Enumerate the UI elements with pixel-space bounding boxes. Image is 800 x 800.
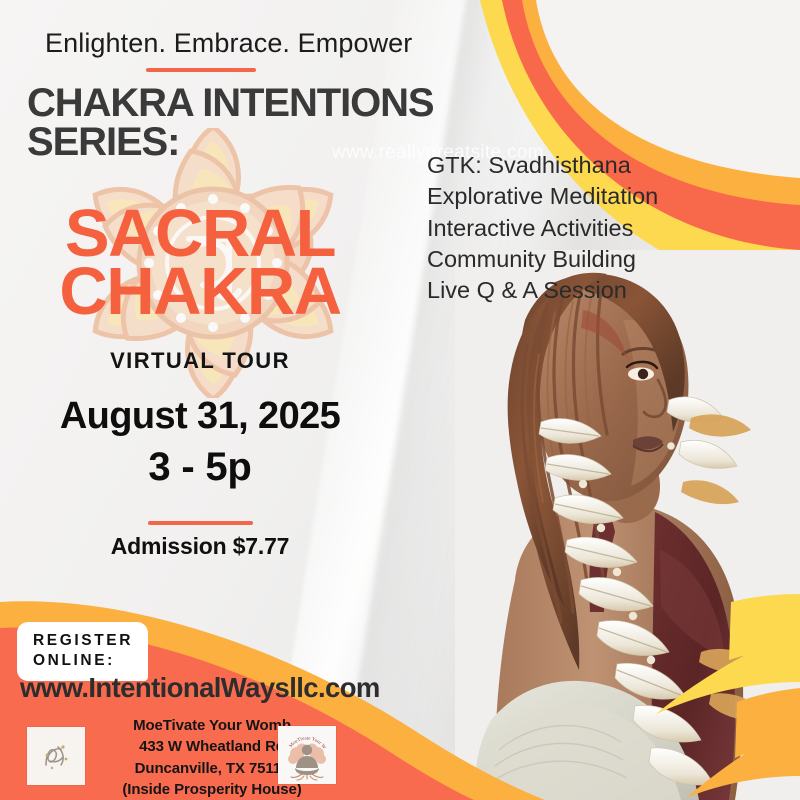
intentional-ways-logo-icon: [27, 727, 85, 785]
chakra-title-line-2: CHAKRA: [0, 263, 400, 321]
feature-item: Community Building: [427, 244, 658, 275]
feature-item: Live Q & A Session: [427, 275, 658, 306]
event-subtitle: VIRTUAL TOUR: [0, 348, 400, 374]
logo-left-svg: [27, 727, 85, 785]
register-badge-line-1: REGISTER: [33, 631, 133, 651]
headline-line-2: SERIES:: [27, 123, 433, 162]
feature-list: GTK: Svadhisthana Explorative Meditation…: [427, 150, 658, 306]
feature-item: Interactive Activities: [427, 213, 658, 244]
feature-item: GTK: Svadhisthana: [427, 150, 658, 181]
feature-item: Explorative Meditation: [427, 181, 658, 212]
tagline-divider: [146, 68, 256, 72]
register-badge-line-2: ONLINE:: [33, 651, 133, 671]
page-title: CHAKRA INTENTIONS SERIES:: [27, 84, 433, 162]
flyer-canvas: Enlighten. Embrace. Empower CHAKRA INTEN…: [0, 0, 800, 800]
moetivate-your-womb-logo-icon: MoeTivate Your Womb: [278, 726, 336, 784]
admission-price: Admission $7.77: [0, 533, 400, 560]
event-date: August 31, 2025: [0, 395, 400, 438]
headline-line-1: CHAKRA INTENTIONS: [27, 84, 433, 123]
chakra-title: SACRAL CHAKRA: [0, 205, 400, 320]
registration-website-link[interactable]: www.IntentionalWaysllc.com: [20, 672, 380, 704]
event-time: 3 - 5p: [0, 445, 400, 490]
admission-divider: [148, 521, 253, 525]
logo-right-svg: MoeTivate Your Womb: [278, 726, 336, 784]
tagline: Enlighten. Embrace. Empower: [45, 28, 412, 59]
